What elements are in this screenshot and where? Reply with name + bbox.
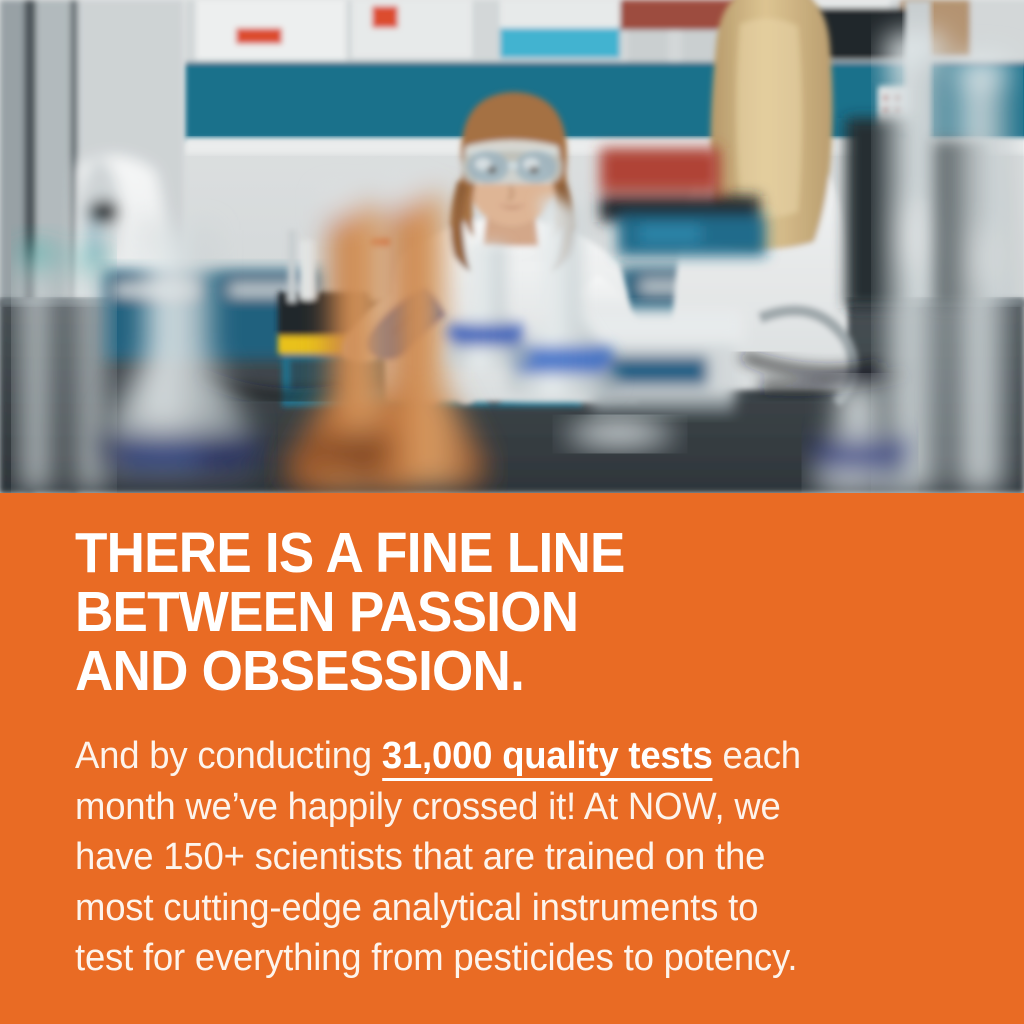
body-line-1-suffix: each (713, 735, 801, 777)
lab-photograph: 500 (0, 0, 1024, 493)
poster-canvas: 500 (0, 0, 1024, 1024)
quality-tests-emphasis: 31,000 quality tests (382, 735, 713, 781)
lab-scene-illustration: 500 (0, 0, 1024, 493)
orange-text-panel: THERE IS A FINE LINE BETWEEN PASSION AND… (0, 493, 1024, 1024)
headline-block: THERE IS A FINE LINE BETWEEN PASSION AND… (75, 524, 955, 701)
body-line-2: month we’ve happily crossed it! At NOW, … (75, 782, 920, 833)
body-copy-block: And by conducting 31,000 quality tests e… (75, 731, 920, 984)
body-line-4: most cutting-edge analytical instruments… (75, 883, 920, 934)
body-line-1: And by conducting 31,000 quality tests e… (75, 731, 920, 782)
body-line-5: test for everything from pesticides to p… (75, 933, 920, 984)
body-line-1-prefix: And by conducting (75, 735, 382, 777)
headline-line-3: AND OBSESSION. (75, 642, 893, 701)
headline-line-1: THERE IS A FINE LINE (75, 524, 893, 583)
headline-line-2: BETWEEN PASSION (75, 583, 893, 642)
body-line-3: have 150+ scientists that are trained on… (75, 832, 920, 883)
